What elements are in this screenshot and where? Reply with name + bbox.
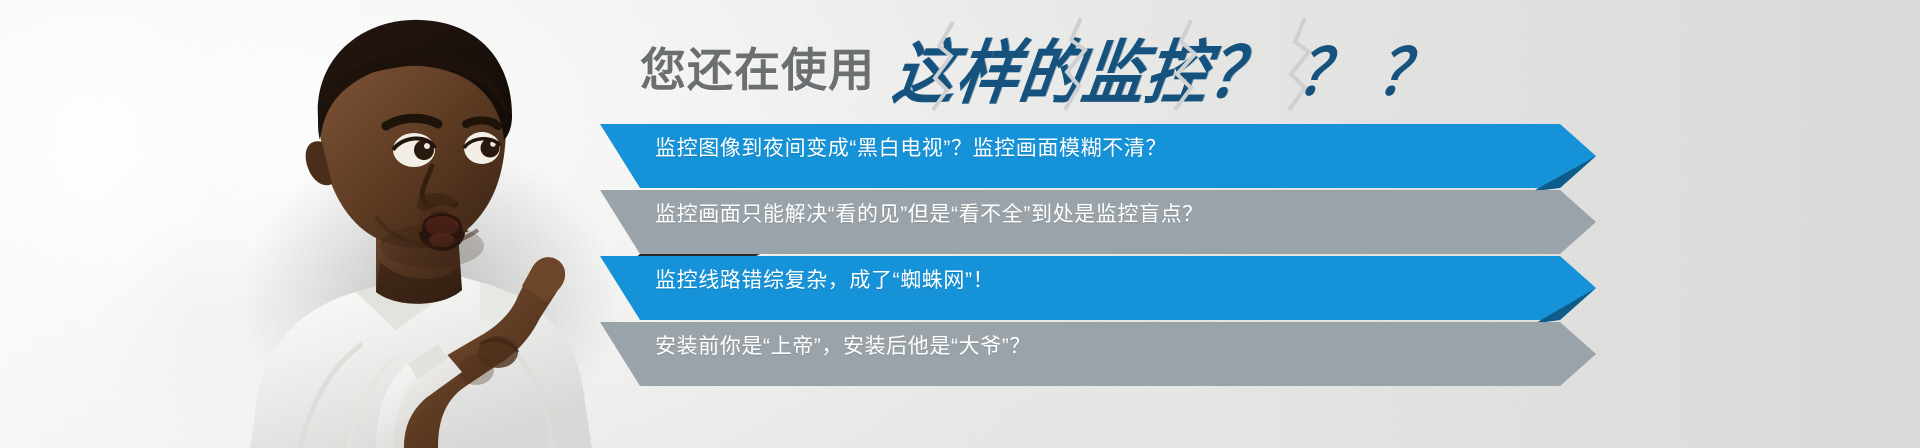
headline-question-marks: ？？ xyxy=(1293,21,1466,113)
ribbon-row-1-text: 监控图像到夜间变成“黑白电视”？监控画面模糊不清？ xyxy=(655,116,1167,178)
banner-stage: 您还在使用 这样的监控？ ？？ 监控图像到夜间变成“黑白电视”？监控画面模糊不清… xyxy=(0,0,1920,448)
ribbon-row-3-text: 监控线路错综复杂，成了“蜘蛛网”！ xyxy=(655,248,994,310)
headline: 您还在使用 这样的监控？ ？？ xyxy=(640,26,1459,108)
ribbon-row-4[interactable]: 安装前你是“上帝”，安装后他是“大爷”？ xyxy=(0,314,1920,376)
ribbon-row-2[interactable]: 监控画面只能解决“看的见”但是“看不全”到处是监控盲点？ xyxy=(0,182,1920,244)
ribbon-list: 监控图像到夜间变成“黑白电视”？监控画面模糊不清？ 监控画面只能解决“看的见”但… xyxy=(0,116,1920,396)
ribbon-row-3[interactable]: 监控线路错综复杂，成了“蜘蛛网”！ xyxy=(0,248,1920,310)
headline-emphasis-wrap: 这样的监控？ xyxy=(895,22,1273,112)
headline-emphasis: 这样的监控？ xyxy=(888,17,1280,118)
ribbon-row-4-text: 安装前你是“上帝”，安装后他是“大爷”？ xyxy=(655,314,1031,376)
headline-prefix: 您还在使用 xyxy=(640,34,875,100)
ribbon-row-1[interactable]: 监控图像到夜间变成“黑白电视”？监控画面模糊不清？ xyxy=(0,116,1920,178)
ribbon-row-2-text: 监控画面只能解决“看的见”但是“看不全”到处是监控盲点？ xyxy=(655,182,1204,244)
